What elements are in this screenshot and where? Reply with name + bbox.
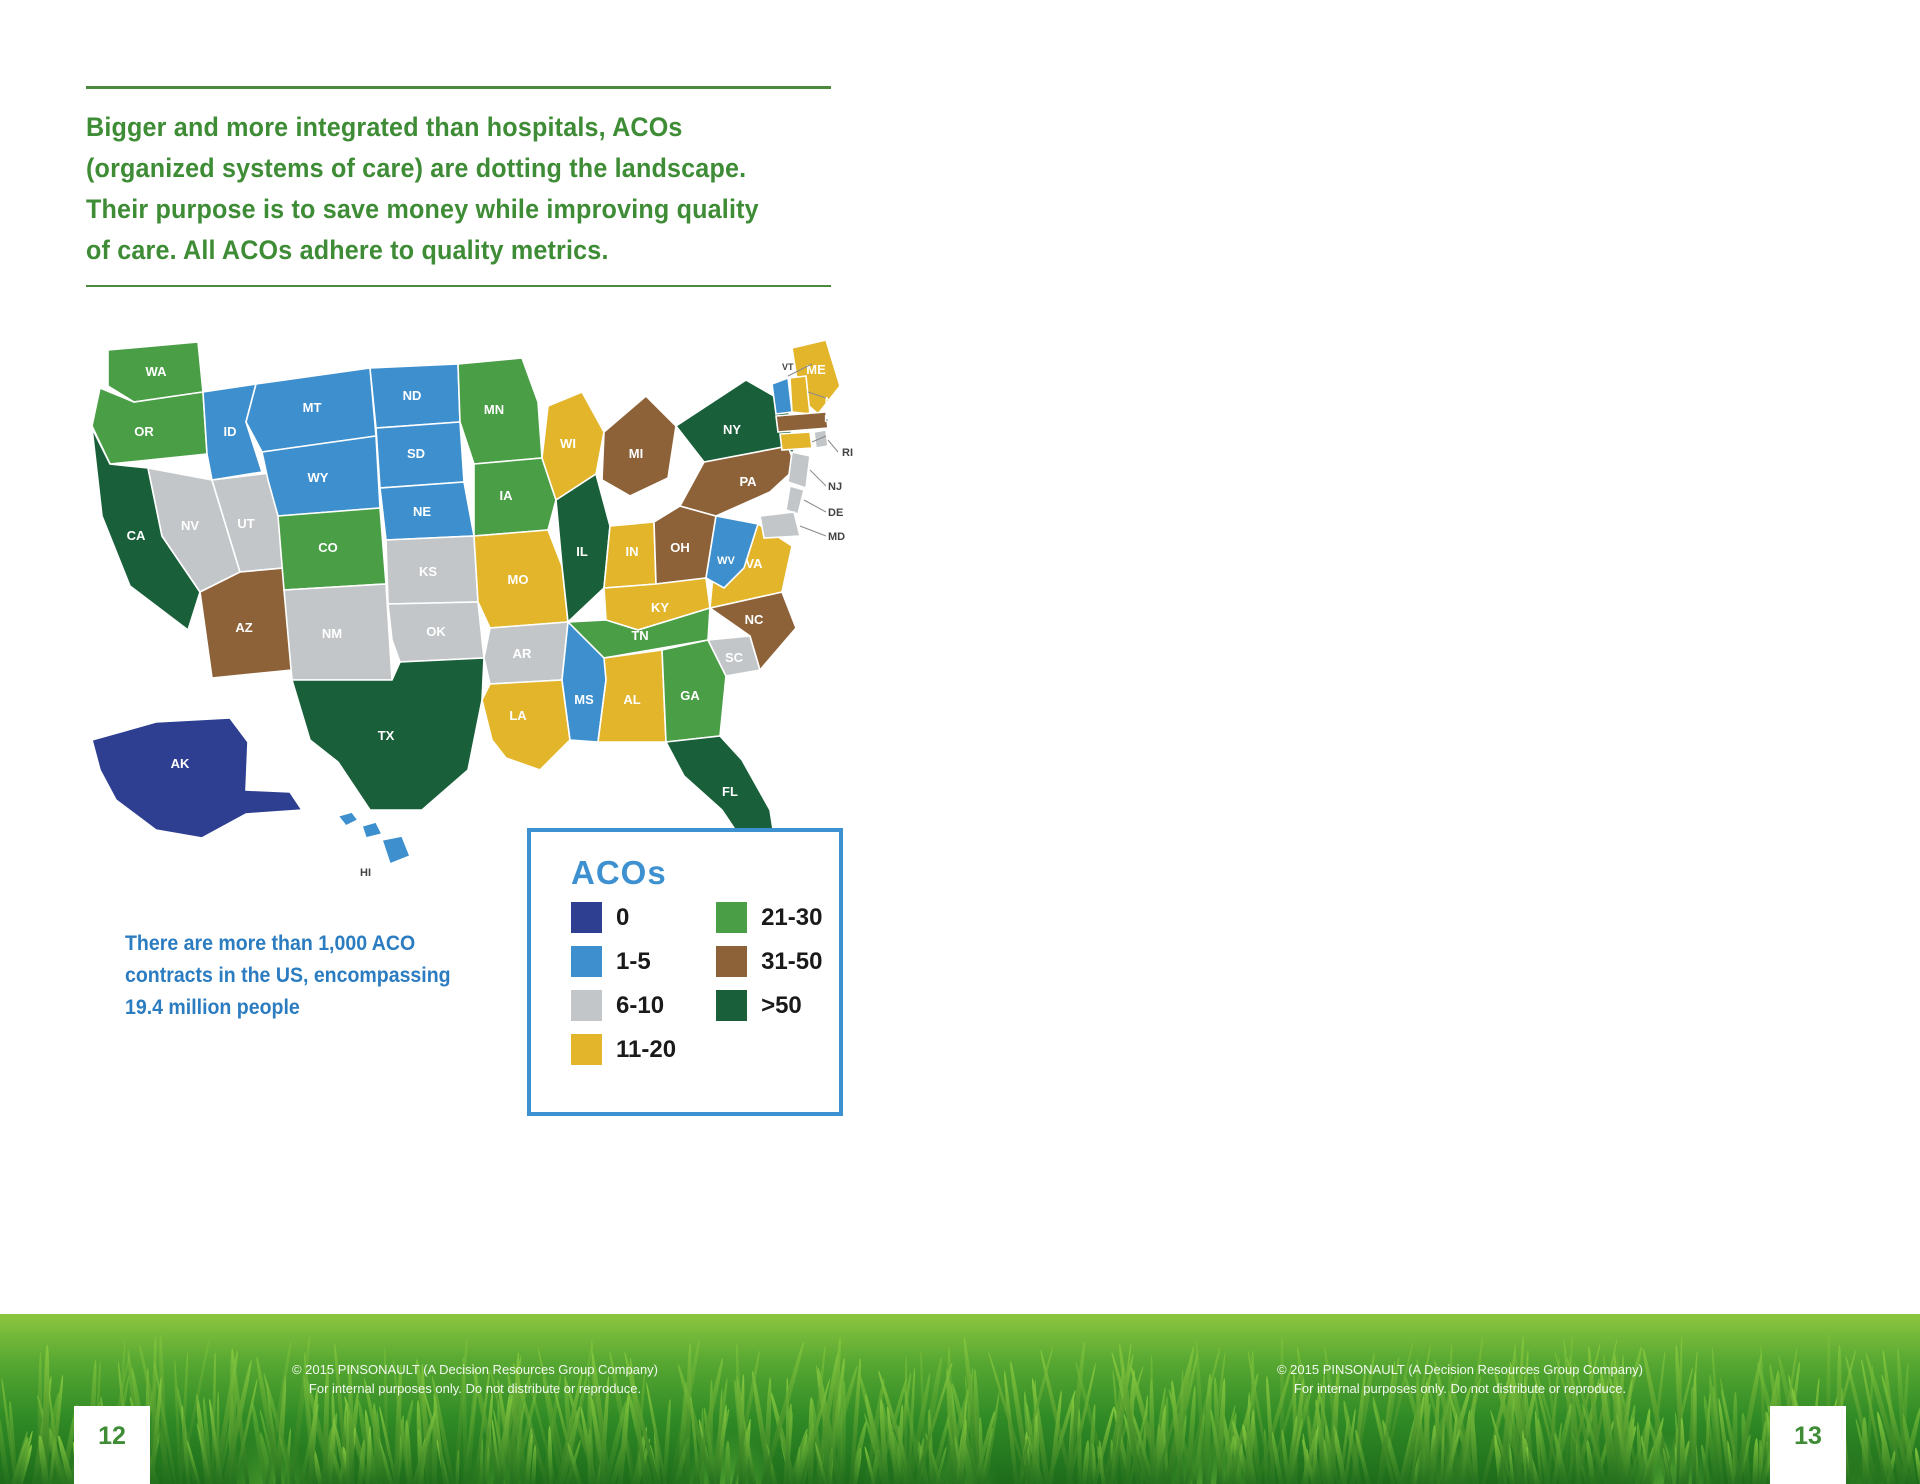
legend-column-right: 21-30 31-50 >50 <box>716 902 822 1065</box>
state-NJ <box>788 452 810 488</box>
legend-swatch <box>571 1034 602 1065</box>
legend-label: >50 <box>761 992 802 1020</box>
legend-swatch <box>571 902 602 933</box>
map-label-KY: KY <box>651 600 669 615</box>
page-tab-left: 12 <box>74 1406 150 1484</box>
legend-swatch <box>716 902 747 933</box>
legend-item: 0 <box>571 902 676 933</box>
map-label-NC: NC <box>745 612 764 627</box>
state-PA <box>680 446 796 516</box>
state-DE <box>786 486 804 514</box>
map-label-NY: NY <box>723 422 741 437</box>
legend-item: 6-10 <box>571 990 676 1021</box>
map-label-MI: MI <box>629 446 643 461</box>
legend-label: 11-20 <box>616 1036 676 1064</box>
map-label-OK: OK <box>426 624 446 639</box>
map-label-VA: VA <box>745 556 763 571</box>
leader-RI <box>828 440 838 452</box>
leader-NJ <box>810 470 826 486</box>
legend-item: 31-50 <box>716 946 822 977</box>
grass-blades <box>0 1314 1920 1484</box>
map-label-PA: PA <box>739 474 757 489</box>
state-CT <box>780 432 812 450</box>
legend-label: 31-50 <box>761 948 822 976</box>
map-label-WY: WY <box>308 470 329 485</box>
state-MD <box>760 512 800 538</box>
legend-item: >50 <box>716 990 822 1021</box>
map-label-TN: TN <box>631 628 648 643</box>
page-spread: Bigger and more integrated than hospital… <box>0 0 1920 1484</box>
copyright-line-1: © 2015 PINSONAULT (A Decision Resources … <box>265 1361 685 1379</box>
legend-label: 0 <box>616 904 629 932</box>
legend-label: 6-10 <box>616 992 664 1020</box>
map-label-CO: CO <box>318 540 338 555</box>
map-label-MD: MD <box>828 531 845 543</box>
map-label-NH: NH <box>825 396 839 407</box>
map-label-IA: IA <box>500 488 514 503</box>
state-AK <box>92 718 302 838</box>
map-label-GA: GA <box>680 688 700 703</box>
map-label-AR: AR <box>513 646 532 661</box>
legend-column-left: 0 1-5 6-10 11-20 <box>571 902 676 1065</box>
grass-footer-image <box>0 1314 1920 1484</box>
map-label-ME: ME <box>806 362 826 377</box>
page-tab-right: 13 <box>1770 1406 1846 1484</box>
map-label-AZ: AZ <box>235 620 252 635</box>
map-label-HI: HI <box>360 867 371 879</box>
copyright-left: © 2015 PINSONAULT (A Decision Resources … <box>265 1361 685 1398</box>
map-label-NE: NE <box>413 504 431 519</box>
legend-item: 11-20 <box>571 1034 676 1065</box>
map-label-MT: MT <box>303 400 322 415</box>
map-label-FL: FL <box>722 784 738 799</box>
map-legend: ACOs 0 1-5 6-10 <box>527 828 843 1116</box>
map-label-CA: CA <box>127 528 146 543</box>
map-label-AK: AK <box>171 756 190 771</box>
map-label-WV: WV <box>717 555 735 567</box>
legend-title: ACOs <box>571 854 839 892</box>
page-number: 13 <box>1794 1422 1822 1451</box>
legend-label: 21-30 <box>761 904 822 932</box>
copyright-line-1: © 2015 PINSONAULT (A Decision Resources … <box>1250 1361 1670 1379</box>
map-label-IL: IL <box>576 544 588 559</box>
map-label-VT: VT <box>782 362 794 372</box>
page-number: 12 <box>98 1422 126 1451</box>
state-IA <box>474 458 556 536</box>
legend-swatch <box>571 946 602 977</box>
copyright-line-2: For internal purposes only. Do not distr… <box>1250 1380 1670 1398</box>
map-caption: There are more than 1,000 ACO contracts … <box>125 928 460 1024</box>
state-NH <box>790 376 810 414</box>
map-label-RI: RI <box>842 447 853 459</box>
copyright-right: © 2015 PINSONAULT (A Decision Resources … <box>1250 1361 1670 1398</box>
map-label-CT: CT <box>825 430 838 441</box>
legend-label: 1-5 <box>616 948 651 976</box>
map-label-ND: ND <box>403 388 422 403</box>
leader-MD <box>800 526 826 536</box>
copyright-line-2: For internal purposes only. Do not distr… <box>265 1380 685 1398</box>
map-label-UT: UT <box>237 516 254 531</box>
map-label-KS: KS <box>419 564 437 579</box>
state-MA <box>776 412 828 432</box>
map-label-MN: MN <box>484 402 504 417</box>
map-label-ID: ID <box>224 424 237 439</box>
intro-paragraph: Bigger and more integrated than hospital… <box>86 89 779 285</box>
right-page: “The bottom line is we will be reimburse… <box>960 0 1920 1484</box>
map-label-MS: MS <box>574 692 594 707</box>
leader-DE <box>804 500 826 512</box>
state-VT <box>772 378 792 414</box>
intro-bottom-rule <box>86 285 831 287</box>
map-label-NJ: NJ <box>828 481 842 493</box>
map-label-OR: OR <box>134 424 154 439</box>
map-label-DE: DE <box>828 507 843 519</box>
legend-item: 1-5 <box>571 946 676 977</box>
map-label-AL: AL <box>623 692 640 707</box>
map-label-NM: NM <box>322 626 342 641</box>
map-label-MO: MO <box>508 572 529 587</box>
legend-swatch <box>571 990 602 1021</box>
intro-block: Bigger and more integrated than hospital… <box>86 86 831 287</box>
map-label-OH: OH <box>670 540 690 555</box>
map-label-LA: LA <box>509 708 527 723</box>
state-HI <box>338 812 358 826</box>
left-page: Bigger and more integrated than hospital… <box>0 0 960 1484</box>
map-label-TX: TX <box>378 728 395 743</box>
legend-item: 21-30 <box>716 902 822 933</box>
state-HI2 <box>362 822 382 838</box>
map-label-WA: WA <box>146 364 168 379</box>
map-label-WI: WI <box>560 436 576 451</box>
map-label-IN: IN <box>626 544 639 559</box>
map-label-NV: NV <box>181 518 199 533</box>
state-HI3 <box>382 836 410 864</box>
legend-swatch <box>716 946 747 977</box>
map-label-SC: SC <box>725 650 744 665</box>
legend-swatch <box>716 990 747 1021</box>
map-label-SD: SD <box>407 446 425 461</box>
state-LA <box>482 680 570 770</box>
